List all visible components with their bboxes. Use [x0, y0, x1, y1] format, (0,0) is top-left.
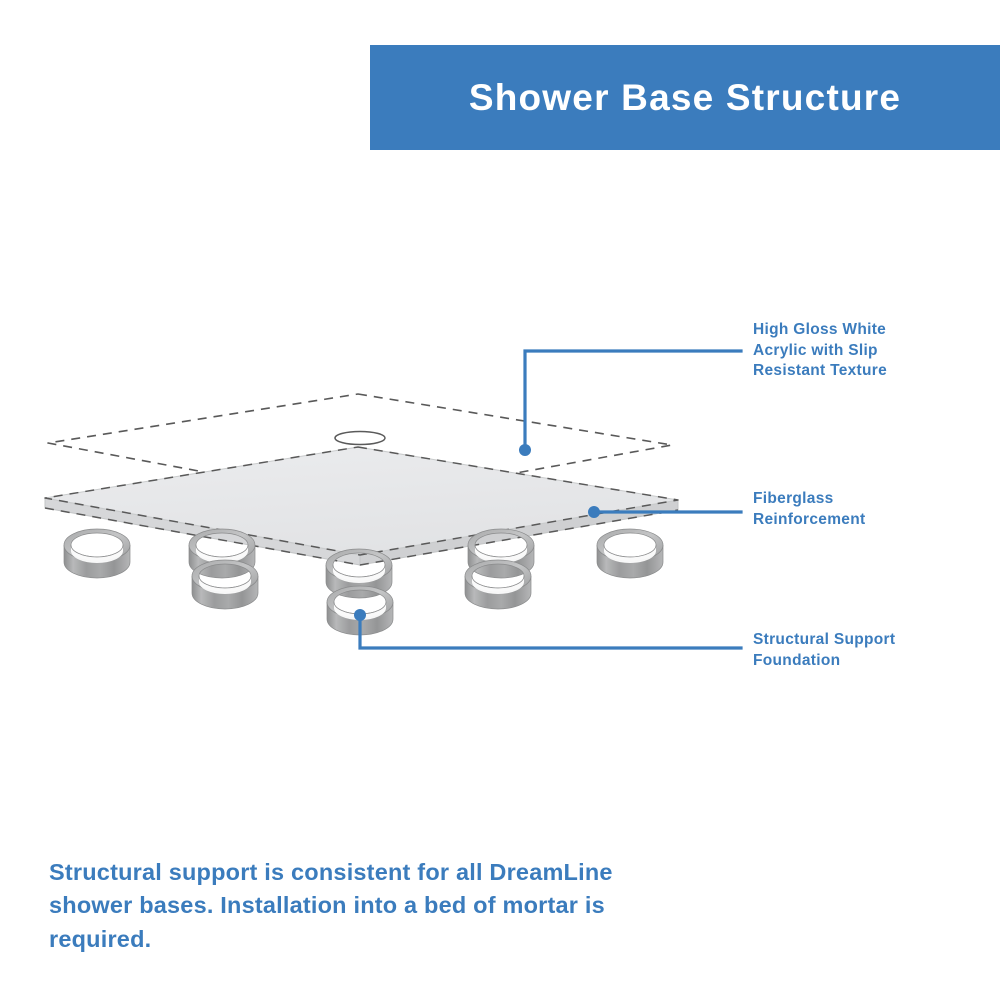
drain-opening-ellipse [335, 432, 385, 445]
support-ring [64, 529, 130, 578]
callout-leader-lines [354, 351, 741, 648]
support-ring [597, 529, 663, 578]
callout-label-fiberglass: Fiberglass Reinforcement [753, 489, 865, 530]
leader-line-support [360, 615, 741, 648]
support-ring [192, 560, 258, 609]
fiberglass-reinforcement-layer [45, 447, 678, 565]
support-ring [326, 549, 392, 598]
page-title: Shower Base Structure [469, 77, 901, 119]
leader-line-acrylic [525, 351, 741, 450]
support-ring [468, 529, 534, 578]
footer-caption: Structural support is consistent for all… [49, 856, 689, 956]
acrylic-top-layer [48, 394, 672, 501]
support-ring [327, 586, 393, 635]
title-banner: Shower Base Structure [370, 45, 1000, 150]
structural-support-rings [64, 529, 663, 635]
leader-dot-support [354, 609, 366, 621]
callout-label-acrylic: High Gloss White Acrylic with Slip Resis… [753, 320, 887, 382]
support-ring [189, 529, 255, 578]
callout-label-support: Structural Support Foundation [753, 630, 895, 671]
leader-dot-fiberglass [588, 506, 600, 518]
support-ring [465, 560, 531, 609]
leader-dot-acrylic [519, 444, 531, 456]
